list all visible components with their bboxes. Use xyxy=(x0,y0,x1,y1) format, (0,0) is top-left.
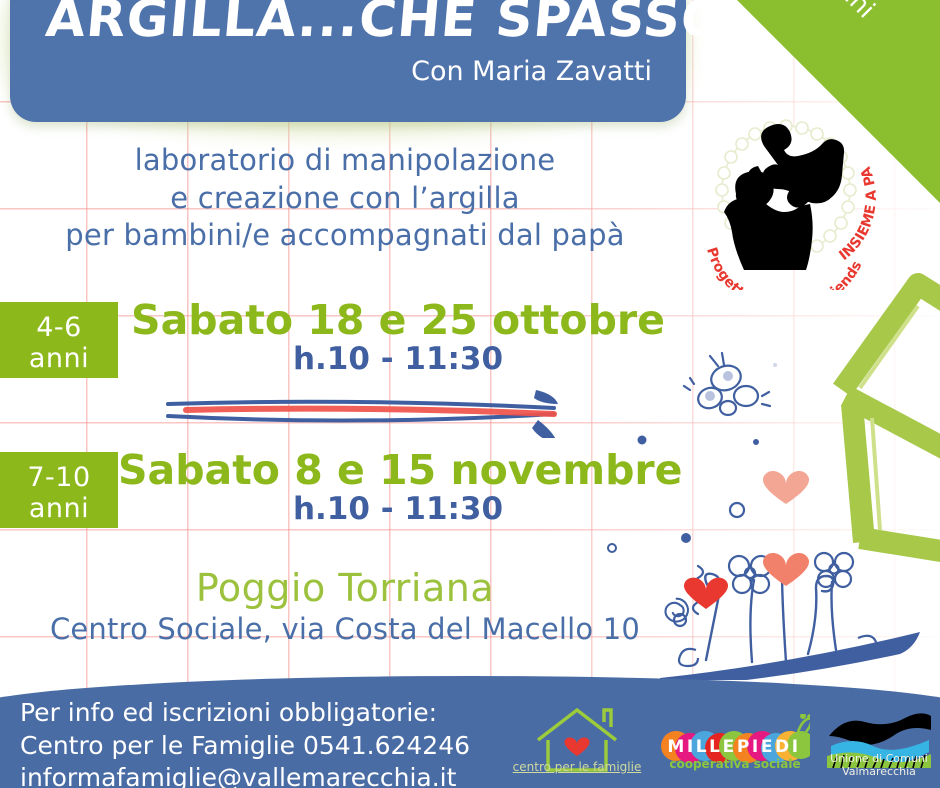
millepiedi-caption: cooperativa sociale xyxy=(660,757,810,771)
house-outline-icon xyxy=(800,270,940,570)
age-badge-7-10: 7-10 anni xyxy=(0,452,118,528)
millepiedi-wordmark: MILLEPIEDI xyxy=(667,737,800,757)
session-time-1: h.10 - 11:30 xyxy=(118,341,678,377)
location-city: Poggio Torriana xyxy=(0,566,690,610)
centro-per-le-famiglie-caption: centro per le famiglie xyxy=(506,760,648,774)
intro-description: laboratorio di manipolazione e creazione… xyxy=(0,142,690,255)
age-badge-4-6: 4-6 anni xyxy=(0,302,118,378)
page-title: ARGILLA...CHE SPASSO! xyxy=(44,0,668,45)
session-date-2: Sabato 8 e 15 novembre xyxy=(118,446,678,494)
poster-root: ARGILLA...CHE SPASSO! Con Maria Zavatti … xyxy=(0,0,940,788)
session-time-2: h.10 - 11:30 xyxy=(118,491,678,527)
footer-contact-info: Per info ed iscrizioni obbligatorie: Cen… xyxy=(20,697,470,788)
unione-comuni-caption: Unione di Comuni Valmarecchia xyxy=(815,752,940,778)
location-address: Centro Sociale, via Costa del Macello 10 xyxy=(0,612,690,646)
session-date-1: Sabato 18 e 25 ottobre xyxy=(118,296,678,344)
title-banner: ARGILLA...CHE SPASSO! Con Maria Zavatti xyxy=(10,0,686,122)
sandro-project-logo: Progetto Sandro's friends INSIEME A PAPÀ xyxy=(672,94,900,290)
title-subtitle: Con Maria Zavatti xyxy=(411,56,652,87)
decorative-divider xyxy=(150,378,570,438)
